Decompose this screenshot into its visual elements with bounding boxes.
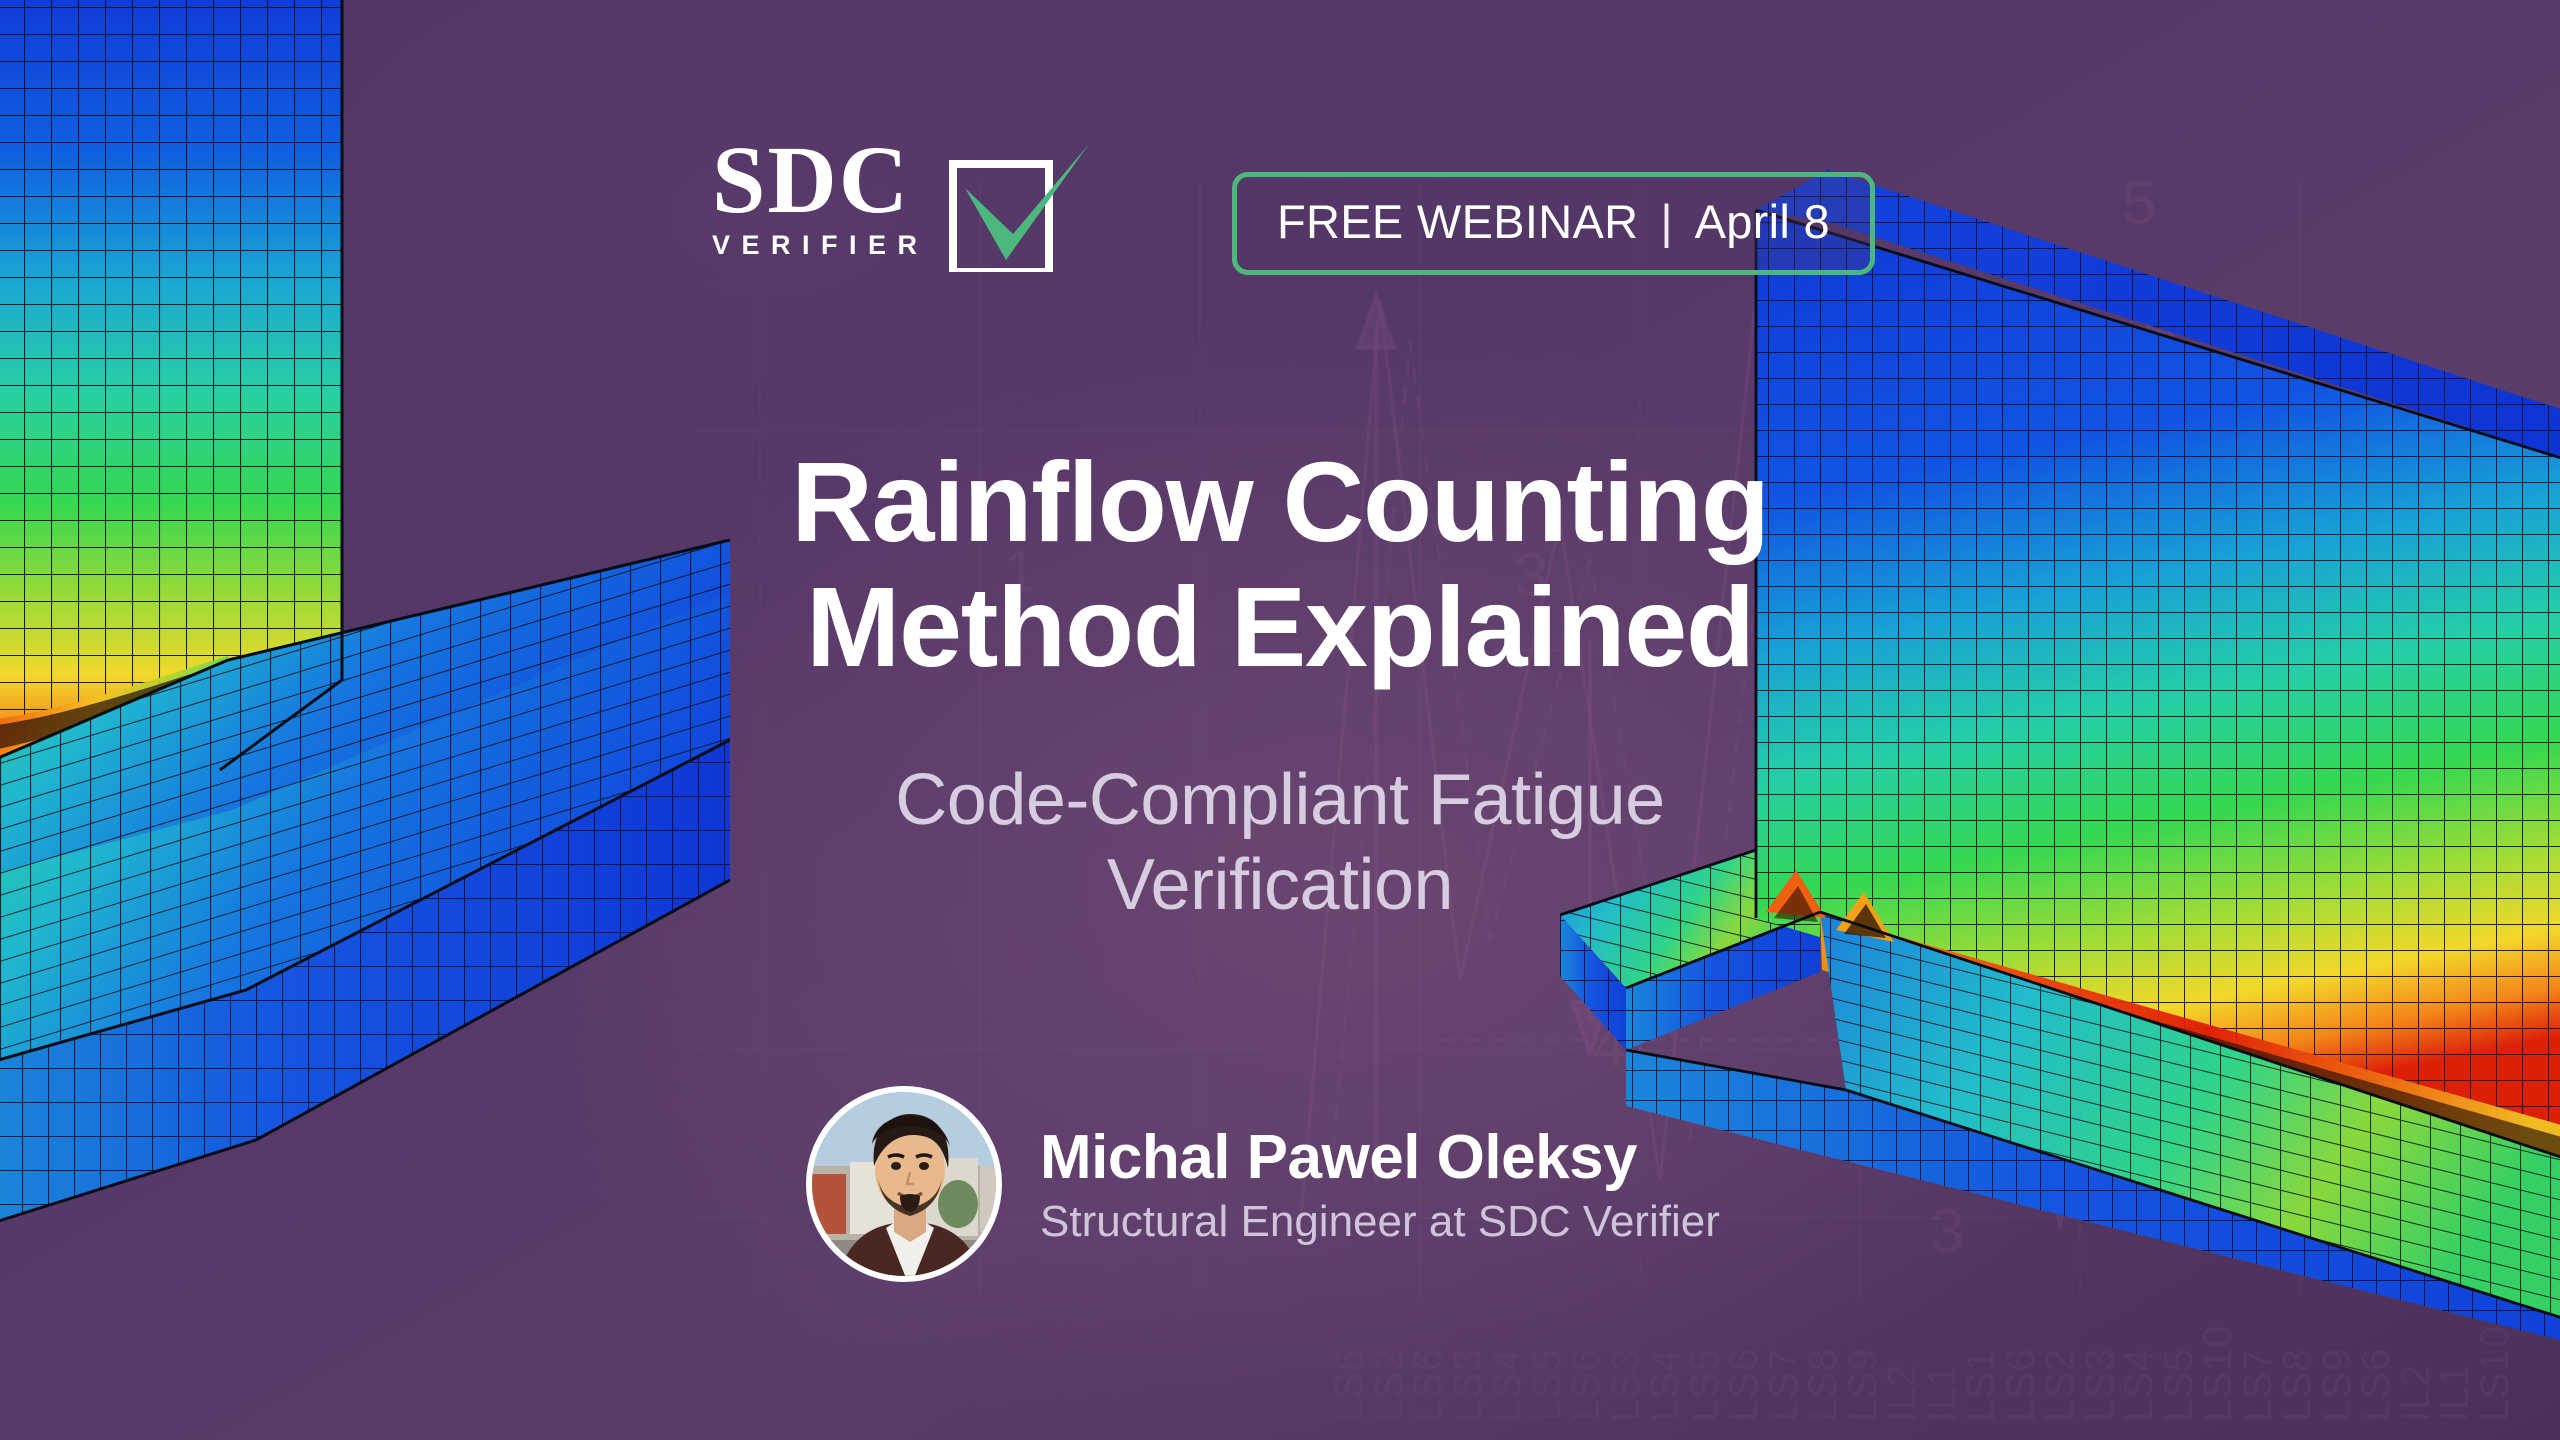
- avatar: [806, 1086, 1002, 1282]
- bg-axis-tick: LS4: [1485, 1348, 1530, 1422]
- bg-axis-tick: LS6: [1722, 1348, 1767, 1422]
- speaker-name: Michal Pawel Oleksy: [1040, 1122, 1720, 1193]
- free-webinar-badge[interactable]: FREE WEBINAR | April 8: [1232, 172, 1875, 275]
- subtitle-line-2: Verification: [0, 843, 2560, 928]
- bg-axis-tick: LS8: [1801, 1348, 1846, 1422]
- bg-axis-tick: LS6: [1564, 1348, 1609, 1422]
- logo-sdc-text: SDC: [712, 132, 929, 228]
- logo-wordmark: SDC VERIFIER: [712, 132, 929, 259]
- bg-axis-tick: IL2: [1880, 1363, 1925, 1422]
- bg-axis-tick: LS6: [1327, 1348, 1372, 1422]
- bg-peak-number: 4: [1592, 1010, 1626, 1081]
- bg-peak-number: 5: [1890, 1100, 1924, 1171]
- bg-axis-tick: LS3: [2078, 1348, 2123, 1422]
- bg-axis-tick: LS6: [1406, 1348, 1451, 1422]
- bg-axis-tick: LS5: [1525, 1348, 1570, 1422]
- bg-axis-tick: LS2: [1367, 1348, 1412, 1422]
- bg-axis-tick: LS1: [1959, 1348, 2004, 1422]
- bg-axis-tick: LS2: [2038, 1348, 2083, 1422]
- badge-date: April 8: [1695, 194, 1830, 249]
- bg-peak-number: 3: [1930, 1196, 1964, 1267]
- bg-axis-tick: LS4: [1643, 1348, 1688, 1422]
- bg-axis-tick: LS8: [2275, 1348, 2320, 1422]
- bg-axis-tick: LS3: [1604, 1348, 1649, 1422]
- bg-axis-tick: IL1: [1920, 1363, 1965, 1422]
- bg-axis-tick: LS10: [2196, 1325, 2241, 1422]
- webinar-promo-banner: 1 5 3 4 5 3 6 LS6LS2LS6LS3LS4LS5LS6LS3LS…: [0, 0, 2560, 1440]
- bg-axis-tick: LS9: [2315, 1348, 2360, 1422]
- headline-line-1: Rainflow Counting: [0, 440, 2560, 565]
- headline-line-2: Method Explained: [0, 565, 2560, 690]
- subtitle-line-1: Code-Compliant Fatigue: [0, 758, 2560, 843]
- speaker-block: Michal Pawel Oleksy Structural Engineer …: [806, 1086, 1720, 1282]
- bg-axis-tick: LS3: [1446, 1348, 1491, 1422]
- speaker-meta: Michal Pawel Oleksy Structural Engineer …: [1040, 1122, 1720, 1247]
- bg-axis-tick: LS9: [1841, 1348, 1886, 1422]
- page-subtitle: Code-Compliant Fatigue Verification: [0, 758, 2560, 928]
- speaker-role: Structural Engineer at SDC Verifier: [1040, 1197, 1720, 1247]
- bg-axis-tick: LS7: [1762, 1348, 1807, 1422]
- bg-peak-number: 5: [2122, 168, 2156, 239]
- badge-label: FREE WEBINAR: [1277, 194, 1638, 249]
- bg-axis-tick: IL1: [2433, 1363, 2478, 1422]
- bg-axis-tick: LS6: [2354, 1348, 2399, 1422]
- bg-axis-tick: LS7: [2236, 1348, 2281, 1422]
- bg-axis-tick: LS4: [2117, 1348, 2162, 1422]
- bg-axis-tick: LS6: [1999, 1348, 2044, 1422]
- bg-axis-tick: LS10: [2473, 1325, 2518, 1422]
- bg-axis-tick: LS5: [1683, 1348, 1728, 1422]
- logo-verifier-text: VERIFIER: [712, 232, 929, 259]
- bg-axis-tick: LS5: [2157, 1348, 2202, 1422]
- bg-axis-tick: IL2: [2394, 1363, 2439, 1422]
- checkmark-in-box-icon: [943, 142, 1095, 277]
- bg-peak-number: 6: [2386, 1196, 2420, 1267]
- sdc-verifier-logo[interactable]: SDC VERIFIER: [712, 132, 1095, 277]
- badge-separator: |: [1660, 194, 1672, 249]
- page-title: Rainflow Counting Method Explained: [0, 440, 2560, 691]
